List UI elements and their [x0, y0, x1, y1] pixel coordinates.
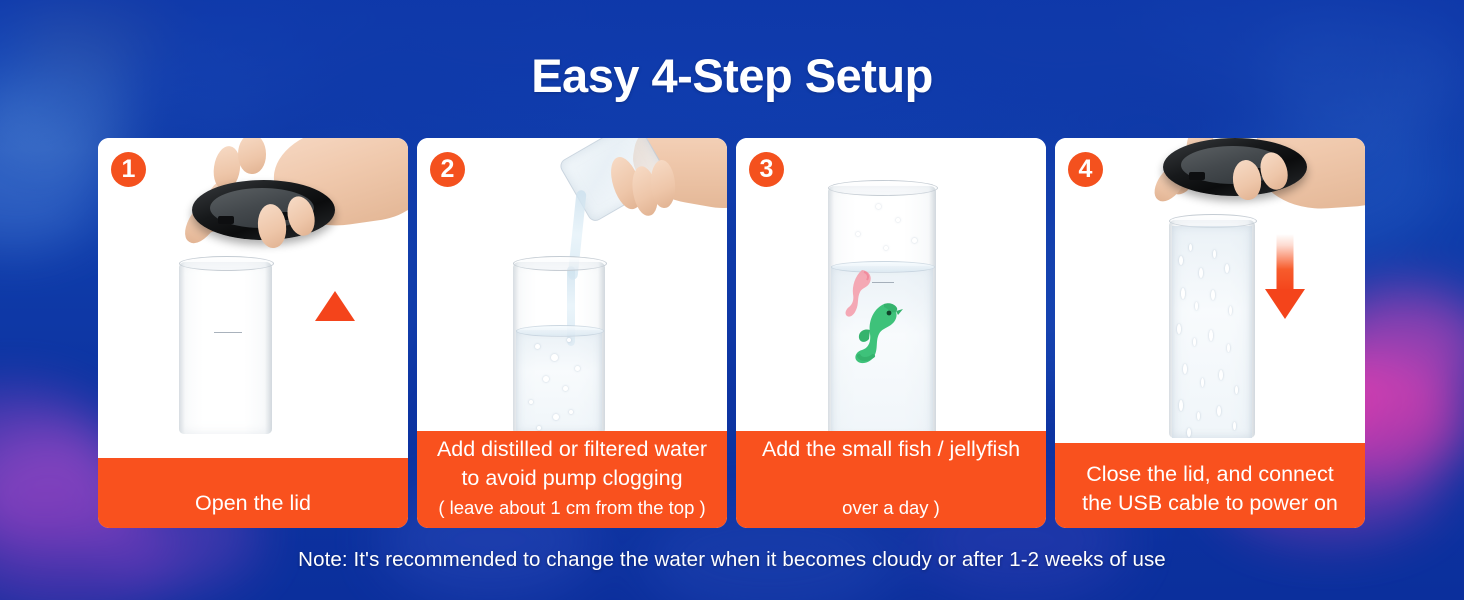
arrow-down-icon	[1263, 234, 1307, 319]
green-seahorse-icon	[848, 298, 904, 368]
footer-note: Note: It's recommended to change the wat…	[0, 548, 1464, 572]
step-card-2[interactable]: 2	[417, 138, 727, 528]
step-3-caption: Add the small fish / jellyfish over a da…	[736, 431, 1046, 528]
step-number-badge-1: 1	[111, 152, 146, 187]
caption-line: Open the lid	[104, 489, 402, 518]
page-title: Easy 4-Step Setup	[0, 50, 1464, 102]
step-2-photo: 2	[417, 138, 727, 431]
step-guide-poster: Easy 4-Step Setup 1	[0, 0, 1464, 600]
caption-line: Close the lid, and connect	[1061, 460, 1359, 489]
step-1-caption: Open the lid	[98, 458, 408, 528]
caption-line: Add distilled or filtered water	[423, 435, 721, 464]
step-number-badge-4: 4	[1068, 152, 1103, 187]
step-3-photo: 3	[736, 138, 1046, 431]
water-body	[516, 330, 602, 431]
caption-line: to avoid pump clogging	[423, 464, 721, 493]
step-number-badge-2: 2	[430, 152, 465, 187]
caption-line: Add the small fish / jellyfish	[742, 435, 1040, 464]
step-4-caption: Close the lid, and connect the USB cable…	[1055, 443, 1365, 528]
caption-line: over a day )	[742, 493, 1040, 522]
step-card-3[interactable]: 3	[736, 138, 1046, 528]
arrow-up-icon	[313, 291, 357, 376]
step-card-4[interactable]: 4	[1055, 138, 1365, 528]
step-2-caption: Add distilled or filtered water to avoid…	[417, 431, 727, 528]
caption-line: ( leave about 1 cm from the top )	[423, 493, 721, 522]
step-number-badge-3: 3	[749, 152, 784, 187]
step-4-photo: 4	[1055, 138, 1365, 443]
step-card-1[interactable]: 1	[98, 138, 408, 528]
caption-line: the USB cable to power on	[1061, 489, 1359, 518]
step-1-photo: 1	[98, 138, 408, 458]
steps-container: 1	[98, 138, 1367, 528]
